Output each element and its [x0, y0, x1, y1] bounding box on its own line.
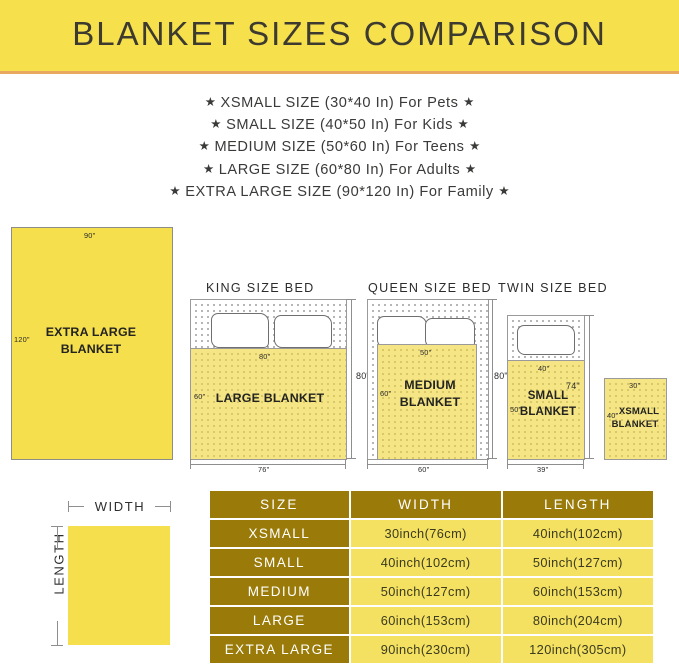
- table-row: SMALL 40inch(102cm) 50inch(127cm): [210, 549, 653, 576]
- star-icon: ★: [205, 95, 216, 109]
- queen-bed-width-tick-right: [487, 459, 488, 469]
- twin-bed-width-label: 39": [537, 465, 548, 474]
- table-header-row: SIZE WIDTH LENGTH: [210, 491, 653, 518]
- king-pillow-right: [274, 315, 332, 348]
- table-cell-width: 30inch(76cm): [351, 520, 501, 547]
- page-title: BLANKET SIZES COMPARISON: [0, 15, 679, 53]
- extra-large-blanket-label-line1: EXTRA LARGE: [11, 325, 171, 339]
- length-key-tick-bottom: [51, 645, 63, 646]
- table-cell-size: LARGE: [210, 607, 349, 634]
- queen-bed-length-label: 80": [494, 371, 508, 381]
- list-item-label: MEDIUM SIZE (50*60 In) For Teens: [214, 139, 464, 155]
- king-bed-title: KING SIZE BED: [206, 281, 315, 295]
- star-icon: ★: [469, 139, 480, 153]
- twin-bed-title: TWIN SIZE BED: [498, 281, 608, 295]
- queen-bed-length-guide: [492, 299, 493, 458]
- list-item-label: SMALL SIZE (40*50 In) For Kids: [226, 117, 453, 133]
- extra-large-blanket-label-line2: BLANKET: [11, 342, 171, 356]
- table-row: LARGE 60inch(153cm) 80inch(204cm): [210, 607, 653, 634]
- feature-list: ★ XSMALL SIZE (30*40 In) For Pets ★ ★ SM…: [0, 92, 679, 203]
- table-cell-size: SMALL: [210, 549, 349, 576]
- list-item: ★ MEDIUM SIZE (50*60 In) For Teens ★: [0, 136, 679, 158]
- queen-medium-blanket-label-line1: MEDIUM: [384, 378, 476, 392]
- list-item: ★ EXTRA LARGE SIZE (90*120 In) For Famil…: [0, 181, 679, 203]
- list-item: ★ XSMALL SIZE (30*40 In) For Pets ★: [0, 92, 679, 114]
- king-pillow-left: [211, 313, 269, 348]
- length-key-guide-top: [57, 526, 58, 550]
- twin-bed-length-guide: [589, 315, 590, 458]
- table-cell-length: 60inch(153cm): [503, 578, 653, 605]
- xsmall-blanket-label-line2: BLANKET: [606, 419, 664, 430]
- width-length-key-rect: [68, 526, 170, 645]
- extra-large-width-label: 90": [84, 231, 95, 240]
- table-cell-length: 120inch(305cm): [503, 636, 653, 663]
- table-cell-width: 60inch(153cm): [351, 607, 501, 634]
- queen-medium-blanket-label-line2: BLANKET: [384, 395, 476, 409]
- king-bed-width-tick-left: [190, 459, 191, 469]
- star-icon: ★: [498, 184, 509, 198]
- table-header-size: SIZE: [210, 491, 349, 518]
- star-icon: ★: [203, 162, 214, 176]
- table-cell-length: 80inch(204cm): [503, 607, 653, 634]
- queen-bed-width-tick-left: [367, 459, 368, 469]
- star-icon: ★: [210, 117, 221, 131]
- king-bed-width-tick-right: [345, 459, 346, 469]
- table-row: EXTRA LARGE 90inch(230cm) 120inch(305cm): [210, 636, 653, 663]
- table-cell-width: 40inch(102cm): [351, 549, 501, 576]
- table-cell-width: 90inch(230cm): [351, 636, 501, 663]
- table-cell-size: MEDIUM: [210, 578, 349, 605]
- length-key-label: LENGTH: [52, 519, 67, 609]
- table-row: XSMALL 30inch(76cm) 40inch(102cm): [210, 520, 653, 547]
- twin-bed-width-tick-right: [583, 459, 584, 469]
- size-table: SIZE WIDTH LENGTH XSMALL 30inch(76cm) 40…: [208, 489, 655, 665]
- twin-bed-width-tick-left: [507, 459, 508, 469]
- table-cell-length: 40inch(102cm): [503, 520, 653, 547]
- list-item: ★ SMALL SIZE (40*50 In) For Kids ★: [0, 114, 679, 136]
- width-key-guide-right: [155, 506, 171, 507]
- star-icon: ★: [458, 117, 469, 131]
- queen-bed-width-label: 60": [418, 465, 429, 474]
- twin-bed-length-tick-top: [584, 315, 594, 316]
- xsmall-blanket-label-line1: XSMALL: [614, 406, 664, 417]
- queen-blanket-width-label: 50": [420, 348, 431, 357]
- table-cell-size: XSMALL: [210, 520, 349, 547]
- king-large-blanket-label: LARGE BLANKET: [196, 391, 344, 405]
- queen-bed-length-tick-top: [487, 299, 497, 300]
- width-key-tick-right: [170, 501, 171, 512]
- king-bed-length-guide: [351, 299, 352, 458]
- twin-bed-length-label: 74": [566, 381, 580, 391]
- length-key-tick-top: [51, 526, 63, 527]
- xsmall-width-label: 30": [629, 381, 640, 390]
- list-item-label: XSMALL SIZE (30*40 In) For Pets: [221, 95, 459, 111]
- list-item-label: LARGE SIZE (60*80 In) For Adults: [219, 162, 460, 178]
- width-key-guide-left: [68, 506, 84, 507]
- twin-small-blanket-label-line1: SMALL: [512, 390, 584, 402]
- list-item: ★ LARGE SIZE (60*80 In) For Adults ★: [0, 159, 679, 181]
- queen-bed-title: QUEEN SIZE BED: [368, 281, 492, 295]
- king-bed-length-tick-bottom: [346, 458, 356, 459]
- king-blanket-width-label: 80": [259, 352, 270, 361]
- table-cell-size: EXTRA LARGE: [210, 636, 349, 663]
- width-key-tick-left: [68, 501, 69, 512]
- length-key-guide-bottom: [57, 621, 58, 645]
- twin-pillow: [517, 325, 575, 355]
- twin-small-blanket-label-line2: BLANKET: [512, 406, 584, 418]
- star-icon: ★: [465, 162, 476, 176]
- table-header-length: LENGTH: [503, 491, 653, 518]
- queen-bed-length-tick-bottom: [487, 458, 497, 459]
- table-cell-length: 50inch(127cm): [503, 549, 653, 576]
- king-bed-width-label: 76": [258, 465, 269, 474]
- twin-bed-length-tick-bottom: [584, 458, 594, 459]
- header-divider-rule: [0, 71, 679, 74]
- star-icon: ★: [463, 95, 474, 109]
- table-cell-width: 50inch(127cm): [351, 578, 501, 605]
- twin-blanket-width-label: 40": [538, 364, 549, 373]
- list-item-label: EXTRA LARGE SIZE (90*120 In) For Family: [185, 184, 494, 200]
- width-key-label: WIDTH: [85, 499, 155, 514]
- star-icon: ★: [199, 139, 210, 153]
- king-bed-length-tick-top: [346, 299, 356, 300]
- table-row: MEDIUM 50inch(127cm) 60inch(153cm): [210, 578, 653, 605]
- table-header-width: WIDTH: [351, 491, 501, 518]
- star-icon: ★: [169, 184, 180, 198]
